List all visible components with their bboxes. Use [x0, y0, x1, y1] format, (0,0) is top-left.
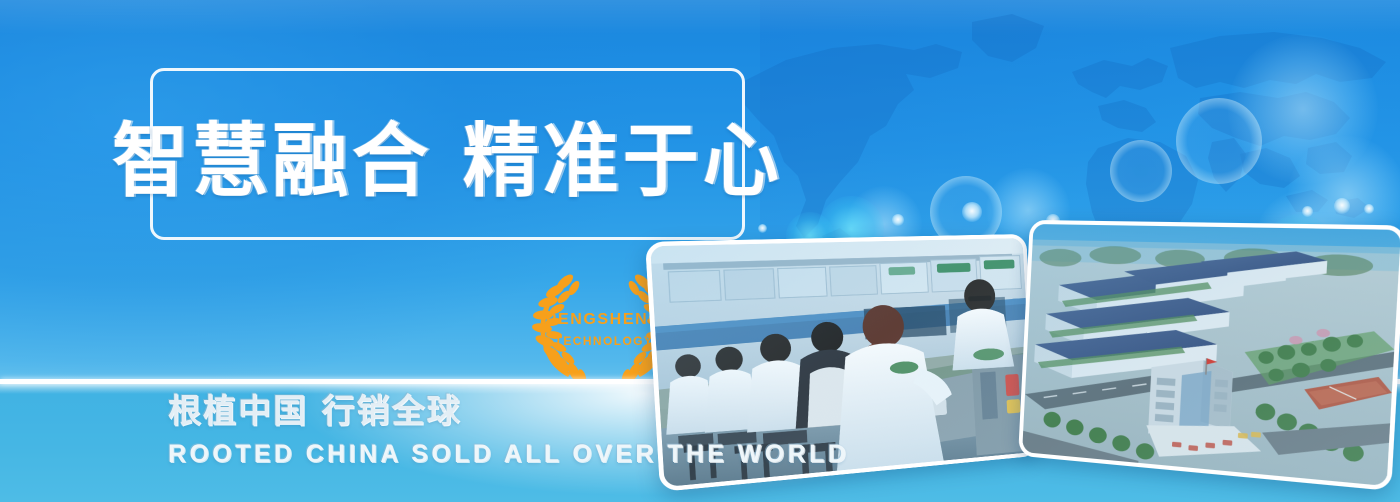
emblem-subtitle: TECHNOLOGY [555, 335, 654, 347]
tagline-block: 根植中国 行销全球 ROOTED CHINA SOLD ALL OVER THE… [168, 394, 728, 469]
tagline-chinese: 根植中国 行销全球 [168, 394, 728, 429]
promotional-banner: 智慧融合 精准于心 [0, 0, 1400, 502]
emblem-brand-name: PENGSHENG [546, 312, 663, 328]
photo-panel-group [672, 206, 1372, 476]
factory-campus-aerial-photo[interactable] [1018, 220, 1400, 491]
tagline-english: ROOTED CHINA SOLD ALL OVER THE WORLD [168, 440, 728, 469]
slogan-headline: 智慧融合 精准于心 [112, 96, 782, 213]
slogan-box: 智慧融合 精准于心 [150, 68, 745, 240]
